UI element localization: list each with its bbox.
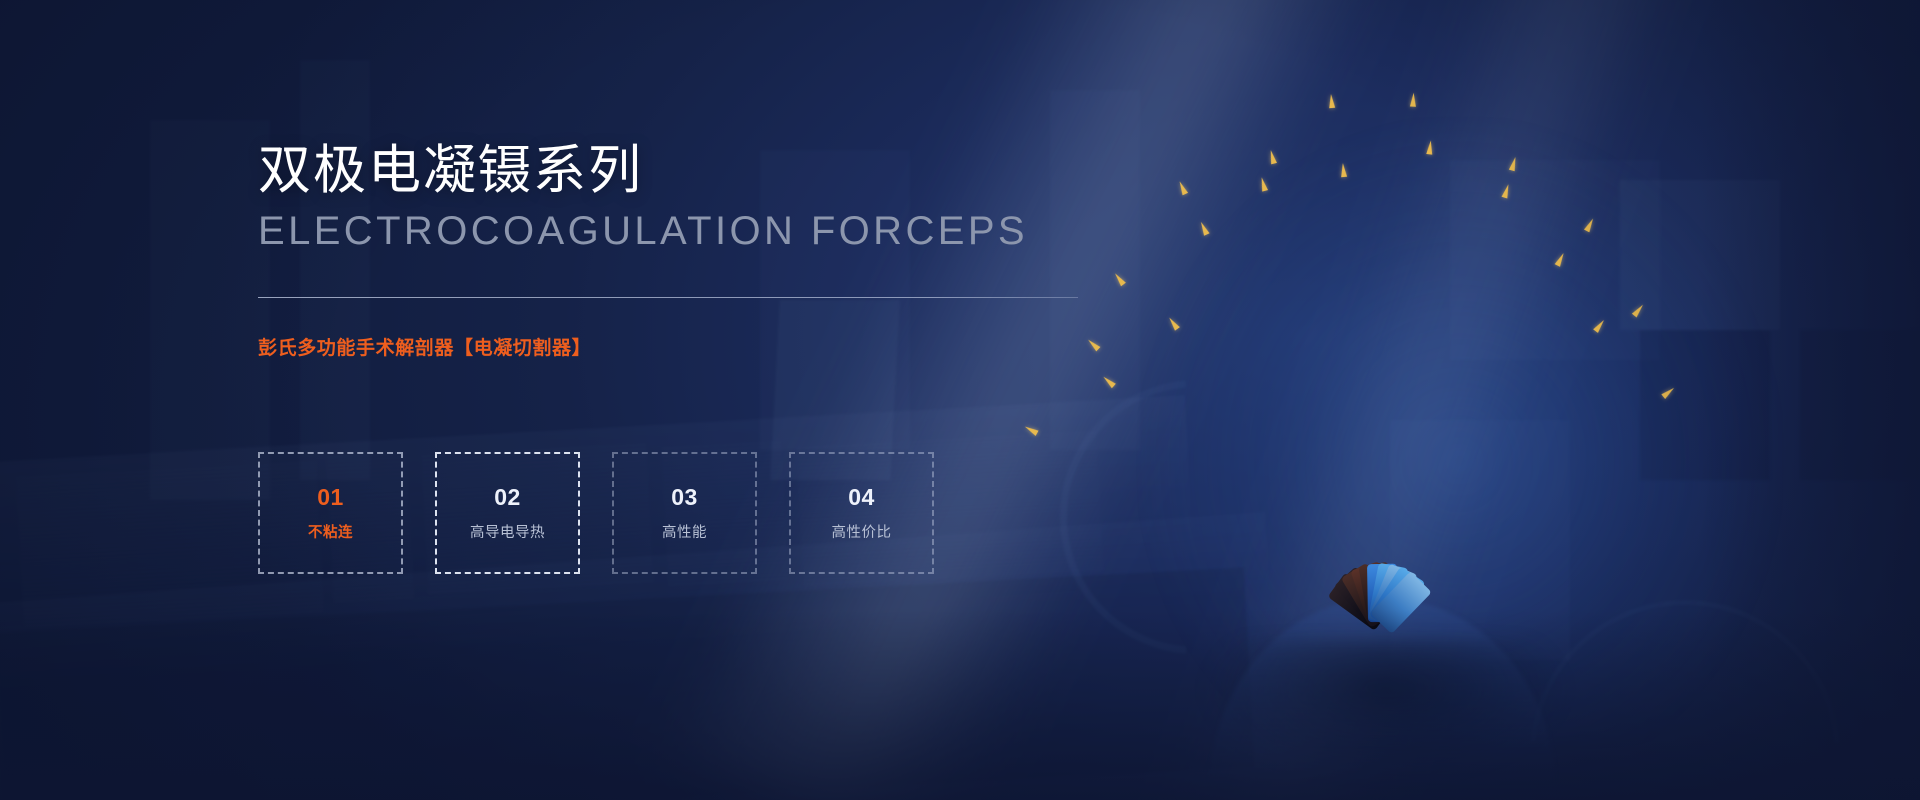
feature-number: 04: [848, 486, 875, 509]
feature-number: 03: [671, 486, 698, 509]
divider: [258, 297, 1078, 298]
feature-box-01[interactable]: 01不粘连: [258, 452, 403, 574]
page-title: 双极电凝镊系列: [258, 142, 643, 199]
product-banner: 双极电凝镊系列 ELECTROCOAGULATION FORCEPS 彭氏多功能…: [0, 0, 1920, 800]
feature-box-02[interactable]: 02高导电导热: [435, 452, 580, 574]
banner-content: 双极电凝镊系列 ELECTROCOAGULATION FORCEPS 彭氏多功能…: [258, 0, 1118, 800]
feature-box-04[interactable]: 04高性价比: [789, 452, 934, 574]
feature-box-03[interactable]: 03高性能: [612, 452, 757, 574]
feature-number: 01: [317, 486, 344, 509]
product-tagline: 彭氏多功能手术解剖器【电凝切割器】: [258, 333, 591, 360]
page-subtitle-en: ELECTROCOAGULATION FORCEPS: [258, 209, 1028, 253]
feature-label: 高性能: [662, 526, 707, 541]
feature-number: 02: [494, 486, 521, 509]
feature-label: 高性价比: [832, 526, 892, 541]
feature-list: 01不粘连02高导电导热03高性能04高性价比: [258, 452, 934, 574]
feature-label: 高导电导热: [470, 526, 545, 541]
feature-label: 不粘连: [308, 526, 353, 541]
